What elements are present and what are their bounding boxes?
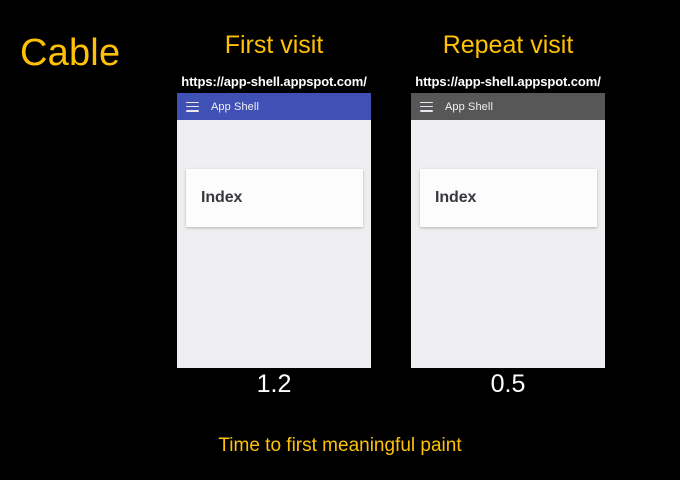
column-heading-repeat-visit: Repeat visit [411,28,605,62]
app-bar-title: App Shell [211,100,259,114]
app-bar-title: App Shell [445,100,493,114]
card-title: Index [201,188,242,208]
phone-screenshot-first-visit: App Shell Index [177,93,371,368]
hamburger-icon[interactable] [420,102,433,112]
phone-screenshot-repeat-visit: App Shell Index [411,93,605,368]
metric-first-visit: 1.2 [177,369,371,399]
url-caption-first-visit: https://app-shell.appspot.com/ [157,74,391,90]
phone-content-area-repeat-visit: Index [411,120,605,368]
hamburger-icon[interactable] [186,102,199,112]
content-card-first-visit[interactable]: Index [186,169,363,227]
column-heading-first-visit: First visit [177,28,371,62]
card-title: Index [435,188,476,208]
content-card-repeat-visit[interactable]: Index [420,169,597,227]
phone-content-area-first-visit: Index [177,120,371,368]
presentation-slide: Cable First visit https://app-shell.apps… [0,0,680,480]
url-caption-repeat-visit: https://app-shell.appspot.com/ [391,74,625,90]
metric-repeat-visit: 0.5 [411,369,605,399]
footer-caption: Time to first meaningful paint [0,433,680,459]
app-bar-repeat-visit: App Shell [411,93,605,120]
slide-title: Cable [20,29,120,77]
app-bar-first-visit: App Shell [177,93,371,120]
